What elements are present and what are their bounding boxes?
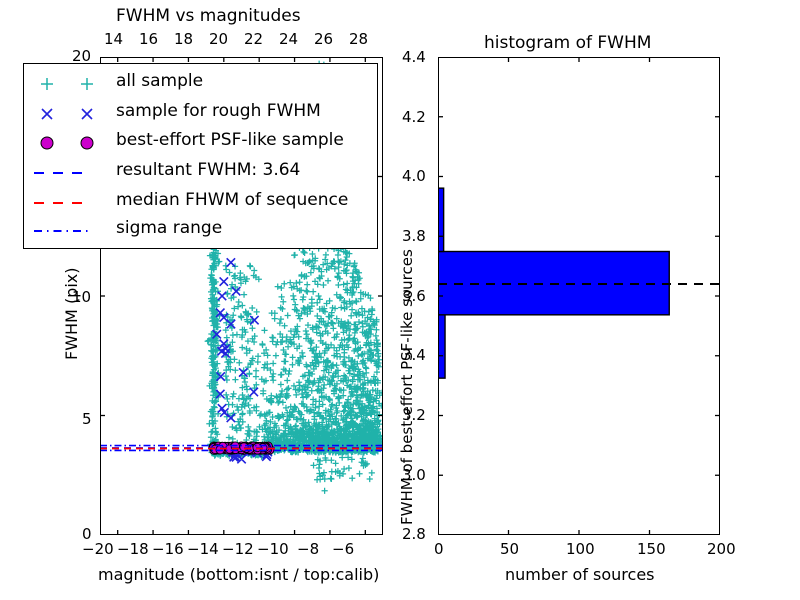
dashed-line-icon bbox=[32, 158, 102, 188]
left-ytick-label: 5 bbox=[82, 410, 92, 428]
right-xaxis-label: number of sources bbox=[505, 565, 655, 584]
top-xtick-label: 26 bbox=[314, 30, 333, 48]
bottom-xtick-label: −16 bbox=[152, 540, 184, 558]
right-ytick-label: 3.4 bbox=[402, 346, 426, 364]
dot-icon bbox=[32, 128, 62, 158]
legend-item[interactable]: sigma range bbox=[24, 216, 377, 246]
bottom-xtick-label: −10 bbox=[257, 540, 289, 558]
legend-item[interactable]: best-effort PSF-like sample bbox=[24, 128, 377, 158]
bottom-xtick-label: −20 bbox=[82, 540, 114, 558]
top-xtick-label: 24 bbox=[279, 30, 298, 48]
legend-label: median FHWM of sequence bbox=[116, 190, 348, 210]
right-ytick-label: 3.6 bbox=[402, 287, 426, 305]
right-axis-ticks bbox=[438, 57, 720, 535]
top-xtick-label: 16 bbox=[139, 30, 158, 48]
right-ytick-label: 3.2 bbox=[402, 406, 426, 424]
right-ytick-label: 2.8 bbox=[402, 525, 426, 543]
legend-item[interactable]: median FHWM of sequence bbox=[24, 188, 377, 218]
left-yaxis-label: FWHM (pix) bbox=[62, 268, 81, 361]
left-xaxis-label: magnitude (bottom:isnt / top:calib) bbox=[98, 565, 379, 584]
right-xtick-label: 50 bbox=[500, 540, 519, 558]
legend-item[interactable]: resultant FWHM: 3.64 bbox=[24, 158, 377, 188]
legend-item[interactable]: all sample bbox=[24, 69, 377, 99]
right-xtick-label: 0 bbox=[434, 540, 444, 558]
right-xtick-label: 150 bbox=[637, 540, 666, 558]
legend-item[interactable]: sample for rough FWHM bbox=[24, 99, 377, 129]
left-plot-title: FWHM vs magnitudes bbox=[116, 6, 301, 26]
top-xtick-label: 18 bbox=[174, 30, 193, 48]
legend: all sample sample for rough FWHM best-ef… bbox=[23, 63, 378, 249]
legend-label: resultant FWHM: 3.64 bbox=[116, 160, 300, 180]
bottom-xtick-label: −18 bbox=[117, 540, 149, 558]
right-plot-title: histogram of FWHM bbox=[484, 33, 651, 53]
legend-label: sample for rough FWHM bbox=[116, 101, 321, 121]
top-xtick-label: 28 bbox=[349, 30, 368, 48]
right-xtick-label: 200 bbox=[707, 540, 736, 558]
right-ytick-label: 4.0 bbox=[402, 167, 426, 185]
plus-icon bbox=[32, 69, 62, 99]
legend-label: best-effort PSF-like sample bbox=[116, 130, 344, 150]
legend-label: all sample bbox=[116, 71, 203, 91]
bottom-xtick-label: −12 bbox=[222, 540, 254, 558]
bottom-xtick-label: −8 bbox=[297, 540, 319, 558]
dot-icon bbox=[72, 128, 102, 158]
top-xtick-label: 22 bbox=[244, 30, 263, 48]
plus-icon bbox=[72, 69, 102, 99]
right-ytick-label: 3.8 bbox=[402, 227, 426, 245]
top-xtick-label: 20 bbox=[209, 30, 228, 48]
right-ytick-label: 3.0 bbox=[402, 466, 426, 484]
dashdot-line-icon bbox=[32, 216, 102, 246]
cross-icon bbox=[32, 99, 62, 129]
legend-label: sigma range bbox=[116, 218, 222, 238]
dashed-line-icon bbox=[32, 188, 102, 218]
bottom-xtick-label: −6 bbox=[332, 540, 354, 558]
top-xtick-label: 14 bbox=[104, 30, 123, 48]
right-ytick-label: 4.2 bbox=[402, 108, 426, 126]
cross-icon bbox=[72, 99, 102, 129]
right-xtick-label: 100 bbox=[566, 540, 595, 558]
right-ytick-label: 4.4 bbox=[402, 48, 426, 66]
bottom-xtick-label: −14 bbox=[187, 540, 219, 558]
figure-canvas: FWHM vs magnitudes 14 16 18 20 22 24 26 … bbox=[0, 0, 800, 600]
